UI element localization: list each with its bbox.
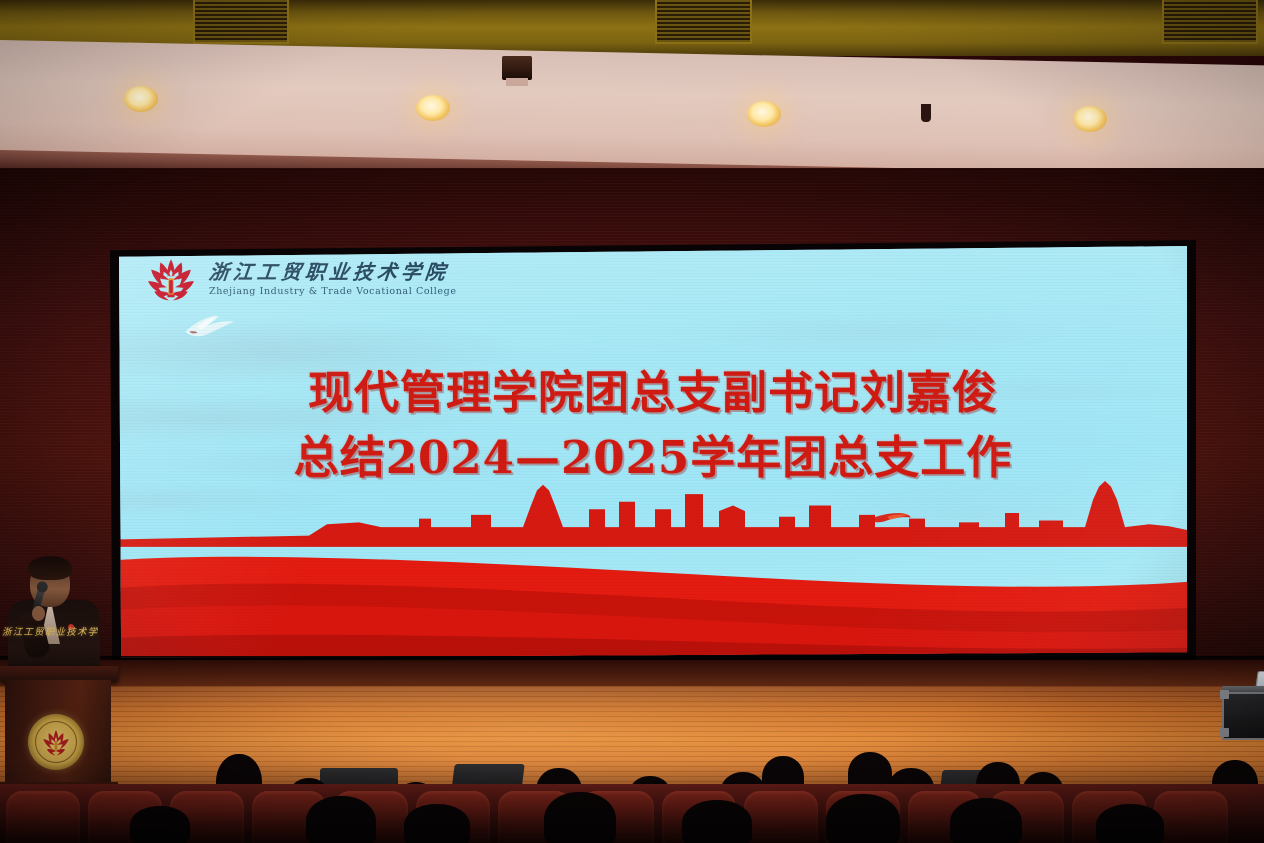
podium-sign-text: 浙江工贸职业技术学院 — [2, 624, 98, 638]
brand-wordmark: 浙江工贸职业技术学院 Zhejiang Industry & Trade Voc… — [209, 262, 457, 297]
auditorium-seat[interactable] — [1154, 791, 1228, 843]
college-seal-emblem — [28, 714, 84, 770]
case-corner-bracket — [1220, 690, 1229, 699]
brand-name-en: Zhejiang Industry & Trade Vocational Col… — [209, 287, 457, 297]
slide-title: 现代管理学院团总支副书记刘嘉俊 总结2024—2025学年团总支工作 — [119, 364, 1187, 487]
zhejiang-industry-trade-lotus-emblem — [145, 254, 197, 304]
air-vent-grille — [655, 0, 752, 44]
podium-with-speaker[interactable]: 浙江工贸职业技术学院 — [0, 556, 126, 806]
auditorium-seat[interactable] — [744, 791, 818, 843]
ceiling-downlight — [747, 101, 781, 127]
slide-title-line-2: 总结2024—2025学年团总支工作 — [119, 429, 1187, 488]
slide-brand-header: 浙江工贸职业技术学院 Zhejiang Industry & Trade Voc… — [145, 254, 457, 304]
equipment-flight-case[interactable] — [1222, 676, 1264, 740]
seal-lotus-icon — [41, 727, 71, 757]
auditorium-seat[interactable] — [6, 791, 80, 843]
ceiling-equipment-box — [502, 56, 532, 80]
presenter-hair — [28, 556, 72, 580]
audience-person-front — [950, 798, 1022, 843]
led-presentation-screen[interactable]: 浙江工贸职业技术学院 Zhejiang Industry & Trade Voc… — [110, 240, 1196, 665]
ceiling-downlight — [1073, 106, 1107, 132]
brand-name-cn: 浙江工贸职业技术学院 — [208, 262, 458, 282]
ceiling-downlight — [416, 95, 450, 121]
slide-surface: 浙江工贸职业技术学院 Zhejiang Industry & Trade Voc… — [119, 246, 1187, 658]
audience-person-front — [130, 806, 190, 843]
audience-person-front — [404, 804, 470, 843]
audience-person-front — [826, 794, 900, 843]
air-vent-grille — [1162, 0, 1258, 44]
case-corner-bracket — [1220, 728, 1229, 737]
ceiling-camera — [921, 104, 931, 122]
air-vent-grille — [193, 0, 289, 44]
audience-person-front — [544, 792, 616, 843]
presenter-hand — [32, 606, 45, 621]
ceiling-downlight — [124, 86, 158, 112]
red-land-wave — [119, 534, 1187, 658]
audience-person-front — [306, 796, 376, 843]
white-dove-icon — [181, 308, 243, 342]
audience-person-front — [1096, 804, 1164, 843]
auditorium-presentation-photo: 浙江工贸职业技术学院 Zhejiang Industry & Trade Voc… — [0, 0, 1264, 843]
slide-title-line-1: 现代管理学院团总支副书记刘嘉俊 — [119, 364, 1187, 423]
floor-light-glow — [0, 686, 1264, 796]
audience-person-front — [682, 800, 752, 843]
